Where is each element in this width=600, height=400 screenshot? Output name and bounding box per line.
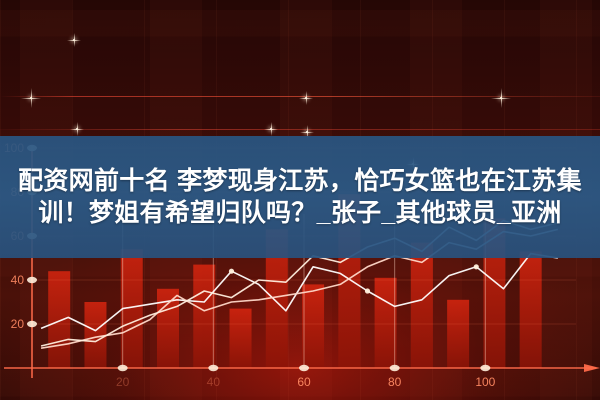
chart-y-tick-label: 40 bbox=[11, 273, 25, 287]
chart-x-tick-label: 100 bbox=[475, 375, 495, 389]
chart-y-tick-marker bbox=[27, 321, 37, 327]
sparkle-star-icon bbox=[73, 39, 75, 41]
chart-line-series-1 bbox=[41, 254, 558, 331]
chart-line-series-1 bbox=[41, 254, 558, 331]
headline-line-1: 配资网前十名 李梦现身江苏，恰巧女篮也在江苏集 bbox=[18, 165, 582, 197]
chart-point-marker bbox=[229, 269, 234, 274]
chart-x-tick-marker bbox=[390, 365, 400, 371]
chart-x-tick-marker bbox=[480, 365, 490, 371]
banner-image: 20406080100 20406080100 配资网前十名 李梦现身江苏，恰巧… bbox=[0, 0, 600, 400]
sparkle-star-icon bbox=[270, 128, 272, 130]
headline-line-2: 训！梦姐有希望归队吗？_张子_其他球员_亚洲 bbox=[38, 197, 561, 229]
chart-x-tick-label: 60 bbox=[297, 375, 311, 389]
chart-x-tick-marker bbox=[299, 365, 309, 371]
chart-bar bbox=[375, 278, 397, 368]
chart-x-tick-marker bbox=[118, 365, 128, 371]
chart-x-tick-label: 20 bbox=[116, 375, 130, 389]
chart-y-tick-marker bbox=[27, 277, 37, 283]
chart-point-marker bbox=[474, 264, 479, 269]
chart-bar bbox=[84, 302, 106, 368]
chart-bar bbox=[447, 300, 469, 368]
background-horizon-line-2 bbox=[0, 129, 600, 130]
sparkle-star-icon bbox=[30, 97, 32, 99]
chart-x-tick-marker bbox=[208, 365, 218, 371]
chart-x-tick-label: 80 bbox=[388, 375, 402, 389]
sparkle-star-icon bbox=[500, 97, 502, 99]
sparkle-star-icon bbox=[76, 128, 78, 130]
sparkle-star-icon bbox=[305, 97, 307, 99]
chart-bar bbox=[411, 243, 433, 368]
chart-y-tick-label: 20 bbox=[11, 317, 25, 331]
sparkle-star-icon bbox=[306, 131, 308, 133]
chart-bar bbox=[230, 309, 252, 368]
chart-x-tick-label: 40 bbox=[207, 375, 221, 389]
chart-point-marker bbox=[365, 288, 370, 293]
chart-bar bbox=[302, 284, 324, 368]
chart-bar bbox=[520, 251, 542, 368]
chart-x-axis-arrow-icon bbox=[584, 364, 600, 372]
chart-bar bbox=[48, 271, 70, 368]
headline-overlay: 配资网前十名 李梦现身江苏，恰巧女篮也在江苏集 训！梦姐有希望归队吗？_张子_其… bbox=[0, 136, 600, 258]
